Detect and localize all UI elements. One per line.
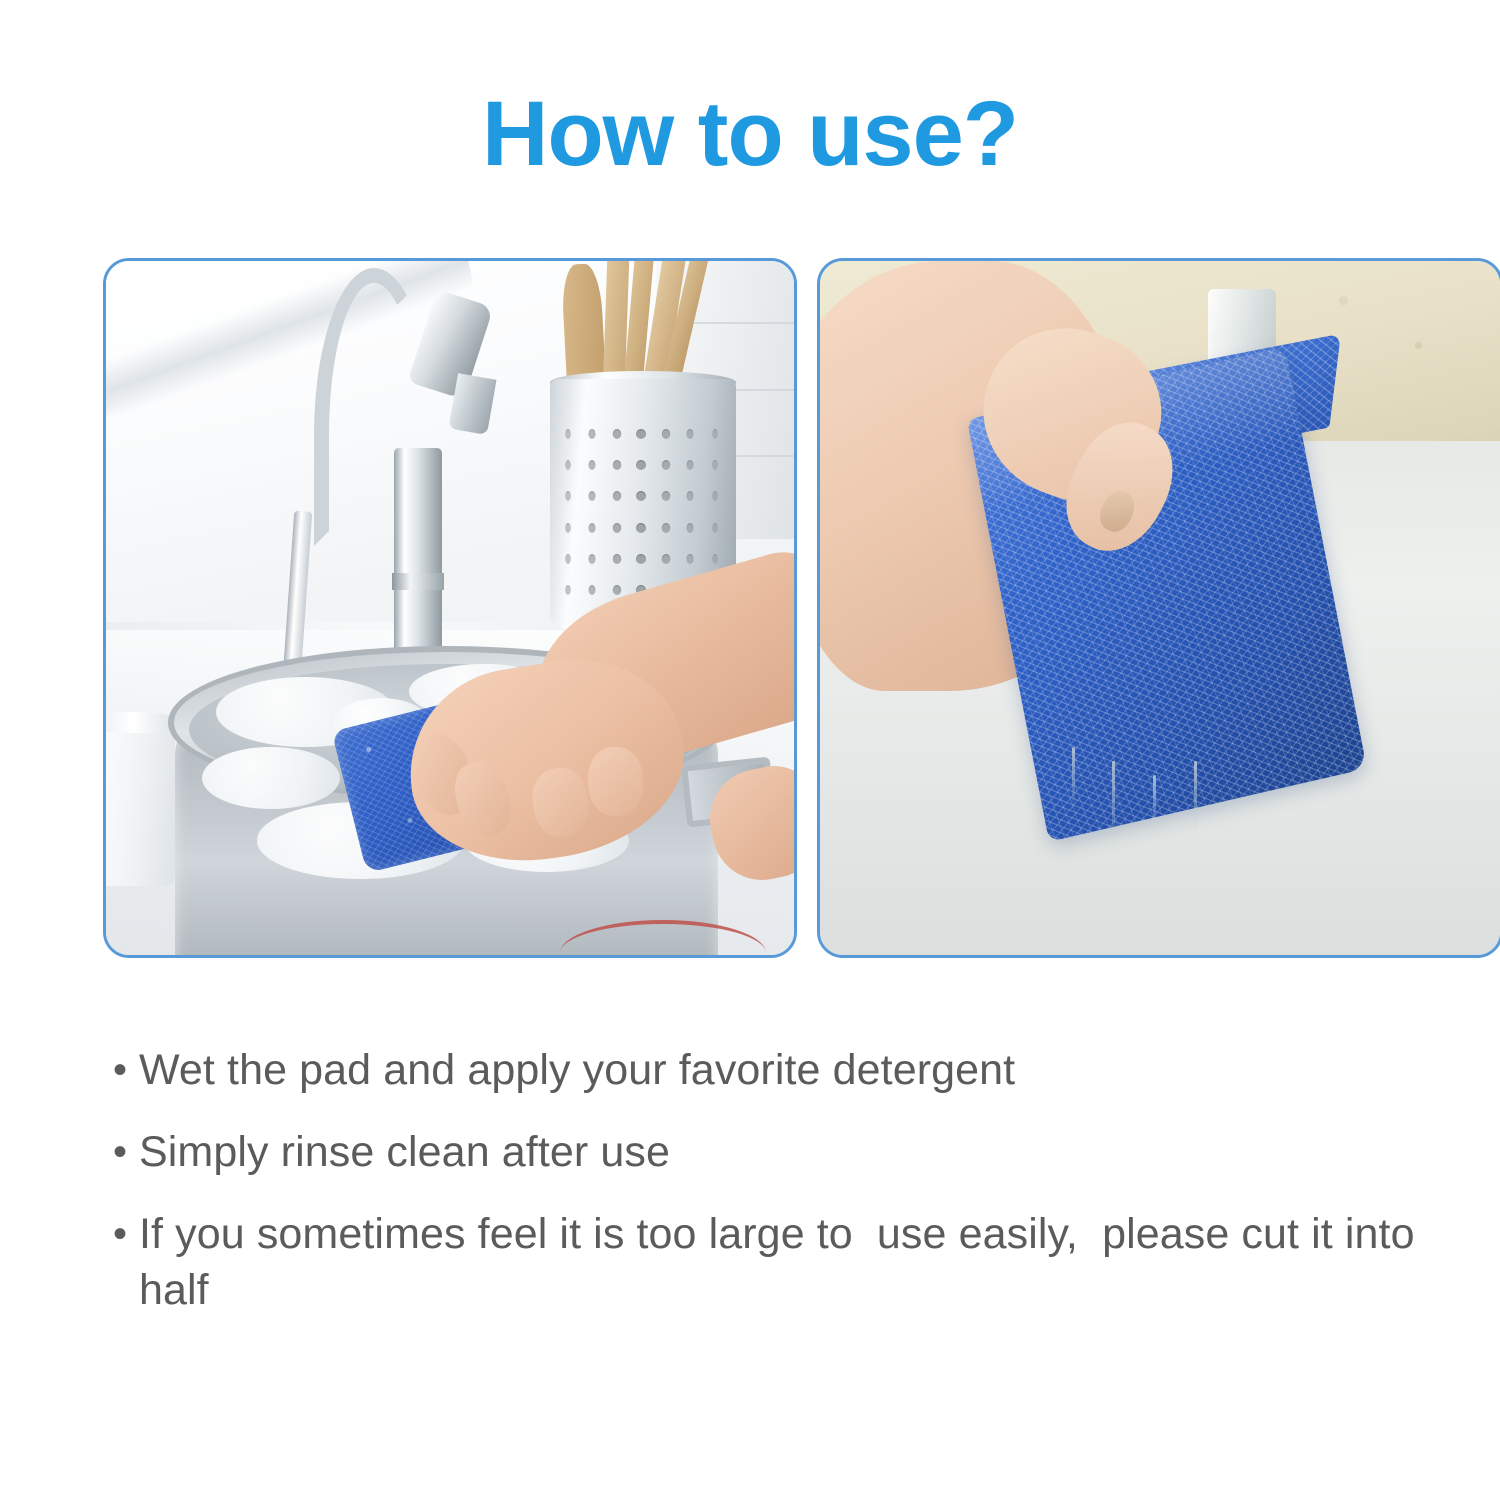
soap-foam bbox=[202, 747, 340, 809]
bullet-icon: • bbox=[113, 1206, 139, 1262]
water-drip bbox=[1112, 761, 1115, 844]
water-drip bbox=[1072, 747, 1075, 809]
page-title: How to use? bbox=[0, 84, 1500, 184]
list-item: • Simply rinse clean after use bbox=[113, 1124, 1473, 1180]
photo-panel-washing-pot bbox=[103, 258, 797, 958]
photo-washing-pot bbox=[106, 261, 794, 955]
sink-cup-rim bbox=[106, 712, 175, 733]
photo-rinsing-pad bbox=[820, 261, 1500, 955]
instruction-text: Wet the pad and apply your favorite dete… bbox=[139, 1042, 1473, 1098]
instruction-text: If you sometimes feel it is too large to… bbox=[139, 1206, 1473, 1318]
instruction-text: Simply rinse clean after use bbox=[139, 1124, 1473, 1180]
faucet-collar bbox=[392, 573, 445, 590]
list-item: • Wet the pad and apply your favorite de… bbox=[113, 1042, 1473, 1098]
bullet-icon: • bbox=[113, 1124, 139, 1180]
bullet-icon: • bbox=[113, 1042, 139, 1098]
list-item: • If you sometimes feel it is too large … bbox=[113, 1206, 1473, 1318]
finger bbox=[586, 746, 643, 817]
photo-panel-rinsing-pad bbox=[817, 258, 1500, 958]
instruction-list: • Wet the pad and apply your favorite de… bbox=[113, 1042, 1473, 1344]
water-drip bbox=[1153, 775, 1156, 831]
sink-cup bbox=[106, 719, 175, 886]
water-drip bbox=[1194, 761, 1197, 837]
